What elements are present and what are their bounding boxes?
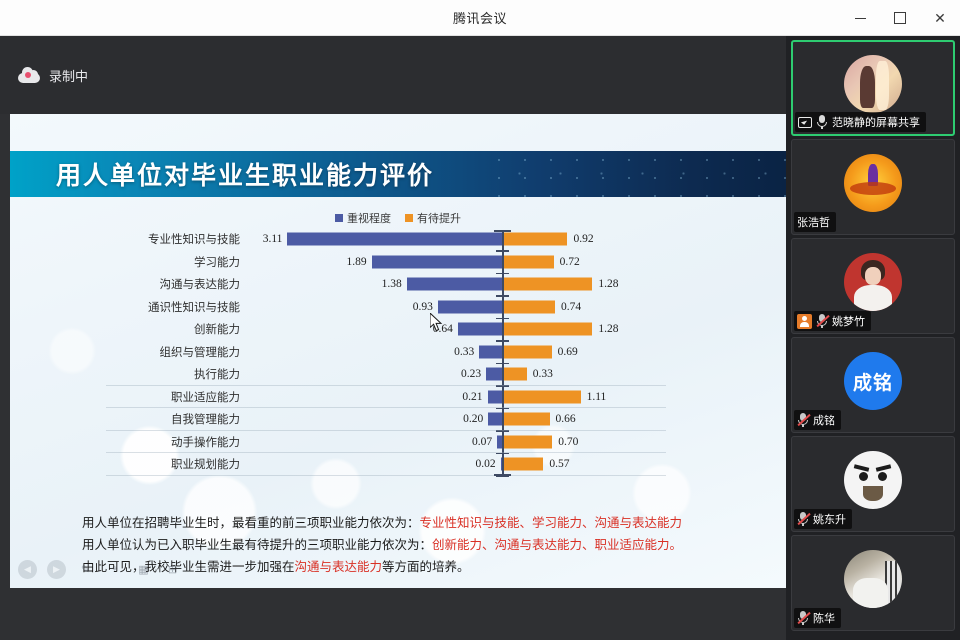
prev-slide-button[interactable]: ◀ [18, 560, 37, 579]
chart-bar-right [504, 255, 554, 268]
chart-value-right: 0.57 [549, 458, 569, 470]
mic-muted-icon [816, 314, 828, 328]
mic-muted-icon [797, 611, 809, 625]
chart-bar-left [372, 255, 502, 268]
chart-category-label: 专业性知识与技能 [40, 231, 240, 247]
avatar-initials: 成铭 [853, 368, 893, 395]
host-person-icon [797, 314, 812, 329]
chart-value-left: 0.07 [472, 436, 492, 448]
chart-row: 通识性知识与技能0.930.74 [10, 296, 786, 319]
avatar [844, 451, 902, 509]
chart-row: 创新能力0.641.28 [10, 318, 786, 341]
chart-value-right: 0.72 [560, 256, 580, 268]
chart-bar-left [497, 435, 502, 448]
participant-name: 范晓静的屏幕共享 [832, 114, 920, 130]
chart-value-right: 0.33 [533, 368, 553, 380]
chart-value-right: 0.74 [561, 301, 581, 313]
chart-axis-cap-bottom [494, 474, 511, 476]
chart-value-left: 0.33 [454, 346, 474, 358]
participant-name: 姚梦竹 [832, 313, 865, 329]
screen-share-icon [798, 117, 812, 128]
chart-value-right: 0.69 [558, 346, 578, 358]
presentation-slide[interactable]: 用人单位对毕业生职业能力评价 重视程度有待提升 专业性知识与技能3.110.92… [10, 114, 786, 588]
chart-bar-right [504, 435, 552, 448]
chart-category-label: 执行能力 [40, 366, 240, 382]
participant-name-chip: 姚梦竹 [794, 311, 871, 331]
pen-icon[interactable]: ✎ [76, 560, 95, 579]
zoom-icon[interactable]: ⊞ [163, 560, 182, 579]
participant-name-chip: 成铭 [794, 410, 841, 430]
avatar: 成铭 [844, 352, 902, 410]
participant-tile-0[interactable]: 范晓静的屏幕共享 [791, 40, 955, 136]
chart-bar-left [287, 233, 502, 246]
legend-swatch-1 [405, 214, 413, 222]
capability-evaluation-chart: 重视程度有待提升 专业性知识与技能3.110.92学习能力1.890.72沟通与… [10, 210, 786, 482]
chart-row-separator [106, 475, 666, 476]
chart-category-label: 组织与管理能力 [40, 344, 240, 360]
chart-bar-right [504, 368, 527, 381]
mic-on-icon [816, 115, 828, 129]
slide-paragraph-1: 用人单位认为已入职毕业生最有待提升的三项职业能力依次为：创新能力、沟通与表达能力… [82, 534, 782, 556]
chart-value-left: 1.38 [382, 278, 402, 290]
chart-row: 组织与管理能力0.330.69 [10, 341, 786, 364]
avatar [844, 253, 902, 311]
participant-tile-2[interactable]: 姚梦竹 [791, 238, 955, 334]
chart-value-left: 0.93 [413, 301, 433, 313]
chart-bar-right [504, 390, 581, 403]
participant-tile-3[interactable]: 成铭成铭 [791, 337, 955, 433]
chart-value-right: 0.70 [558, 436, 578, 448]
legend-item-1: 有待提升 [405, 210, 461, 226]
participant-name-chip: 姚东升 [794, 509, 852, 529]
chart-legend: 重视程度有待提升 [10, 210, 786, 226]
chart-category-label: 创新能力 [40, 321, 240, 337]
slide-text-segment-0-0: 用人单位在招聘毕业生时，最看重的前三项职业能力依次为： [82, 516, 420, 530]
chart-value-right: 1.28 [598, 323, 618, 335]
slide-text-segment-2-1: 沟通与表达能力 [295, 560, 383, 574]
chart-value-right: 1.11 [587, 391, 607, 403]
chart-bar-left [488, 413, 502, 426]
avatar-art [844, 451, 902, 509]
slides-grid-icon[interactable]: ▦ [134, 560, 153, 579]
chart-bar-left [501, 458, 502, 471]
chart-bar-left [458, 323, 502, 336]
slide-paragraph-0: 用人单位在招聘毕业生时，最看重的前三项职业能力依次为：专业性知识与技能、学习能力… [82, 512, 782, 534]
chart-bar-right [504, 345, 552, 358]
ppt-floating-toolbar[interactable]: ◀ ▶ ✎ ⌖ ▦ ⊞ ⋯ [18, 556, 228, 582]
legend-item-0: 重视程度 [335, 210, 391, 226]
avatar [844, 550, 902, 608]
chart-bar-right [504, 323, 592, 336]
laser-pointer-icon[interactable]: ⌖ [105, 560, 124, 579]
window-title: 腾讯会议 [453, 8, 507, 27]
chart-row: 动手操作能力0.070.70 [10, 431, 786, 454]
chart-bar-left [479, 345, 502, 358]
slide-text-segment-1-0: 用人单位认为已入职毕业生最有待提升的三项职业能力依次为： [82, 538, 432, 552]
chart-row: 专业性知识与技能3.110.92 [10, 228, 786, 251]
chart-category-label: 学习能力 [40, 254, 240, 270]
chart-bar-left [438, 300, 502, 313]
legend-swatch-0 [335, 214, 343, 222]
mic-muted-icon [797, 413, 809, 427]
participant-tile-1[interactable]: 张浩哲 [791, 139, 955, 235]
avatar [844, 154, 902, 212]
chart-value-left: 1.89 [346, 256, 366, 268]
avatar-art [844, 55, 902, 113]
minimize-button[interactable] [840, 0, 880, 36]
chart-row: 自我管理能力0.200.66 [10, 408, 786, 431]
chart-rows: 专业性知识与技能3.110.92学习能力1.890.72沟通与表达能力1.381… [10, 228, 786, 478]
legend-label-0: 重视程度 [347, 210, 391, 226]
avatar-art [844, 154, 902, 212]
participant-tile-4[interactable]: 姚东升 [791, 436, 955, 532]
chart-row: 职业适应能力0.211.11 [10, 386, 786, 409]
chart-bar-left [486, 368, 502, 381]
avatar-art: 成铭 [844, 352, 902, 410]
window-titlebar: 腾讯会议 ✕ [0, 0, 960, 36]
chart-row: 学习能力1.890.72 [10, 251, 786, 274]
chart-category-label: 自我管理能力 [40, 411, 240, 427]
slide-text-segment-0-1: 专业性知识与技能、学习能力、沟通与表达能力 [420, 516, 683, 530]
slide-text-segment-2-2: 等方面的培养。 [382, 560, 470, 574]
chart-category-label: 通识性知识与技能 [40, 299, 240, 315]
slide-text-segment-1-1: 创新能力、沟通与表达能力、职业适应能力。 [432, 538, 682, 552]
close-button[interactable]: ✕ [920, 0, 960, 36]
chart-value-right: 0.66 [556, 413, 576, 425]
chart-value-right: 0.92 [573, 233, 593, 245]
chart-bar-right [504, 278, 592, 291]
chart-row: 沟通与表达能力1.381.28 [10, 273, 786, 296]
chart-value-left: 0.21 [462, 391, 482, 403]
mouse-cursor [430, 313, 443, 332]
participant-sidebar[interactable]: 范晓静的屏幕共享张浩哲姚梦竹成铭成铭姚东升陈华 [786, 36, 960, 640]
participant-name: 姚东升 [813, 511, 846, 527]
chart-value-left: 0.20 [463, 413, 483, 425]
participant-name: 成铭 [813, 412, 835, 428]
chart-category-label: 职业规划能力 [40, 456, 240, 472]
more-options-icon[interactable]: ⋯ [192, 560, 211, 579]
legend-label-1: 有待提升 [417, 210, 461, 226]
tencent-meeting-window: 腾讯会议 ✕ 录制中 用人单位对毕业生职业能力评价 重视程度有待提升 [0, 0, 960, 640]
mic-muted-icon [797, 512, 809, 526]
participant-name: 张浩哲 [797, 214, 830, 230]
participant-tile-5[interactable]: 陈华 [791, 535, 955, 631]
shared-screen-stage[interactable]: 录制中 用人单位对毕业生职业能力评价 重视程度有待提升 专业性知识与技能3.11… [0, 36, 786, 640]
slide-title: 用人单位对毕业生职业能力评价 [56, 156, 434, 192]
avatar-art [844, 550, 902, 608]
chart-category-label: 职业适应能力 [40, 389, 240, 405]
recording-label: 录制中 [49, 66, 88, 85]
chart-bar-right [504, 300, 555, 313]
chart-category-label: 沟通与表达能力 [40, 276, 240, 292]
chart-row: 执行能力0.230.33 [10, 363, 786, 386]
maximize-button[interactable] [880, 0, 920, 36]
chart-bar-right [504, 413, 550, 426]
participant-name-chip: 陈华 [794, 608, 841, 628]
participant-name-chip: 张浩哲 [794, 212, 836, 232]
cloud-record-icon [18, 67, 40, 83]
chart-value-right: 1.28 [598, 278, 618, 290]
chart-value-left: 3.11 [263, 233, 283, 245]
participant-name: 陈华 [813, 610, 835, 626]
next-slide-button[interactable]: ▶ [47, 560, 66, 579]
chart-value-left: 0.02 [476, 458, 496, 470]
participant-name-chip: 范晓静的屏幕共享 [795, 112, 926, 132]
chart-row: 职业规划能力0.020.57 [10, 453, 786, 476]
chart-category-label: 动手操作能力 [40, 434, 240, 450]
slide-title-band: 用人单位对毕业生职业能力评价 [10, 151, 786, 197]
chart-bar-right [504, 458, 543, 471]
recording-bar: 录制中 [0, 36, 786, 114]
chart-bar-right [504, 233, 567, 246]
window-controls: ✕ [840, 0, 960, 36]
avatar [844, 55, 902, 113]
chart-axis-cap-top [494, 230, 511, 232]
avatar-art [844, 253, 902, 311]
chart-value-left: 0.23 [461, 368, 481, 380]
chart-bar-left [407, 278, 502, 291]
chart-bar-left [488, 390, 502, 403]
chart-plot-area: 专业性知识与技能3.110.92学习能力1.890.72沟通与表达能力1.381… [10, 228, 786, 478]
